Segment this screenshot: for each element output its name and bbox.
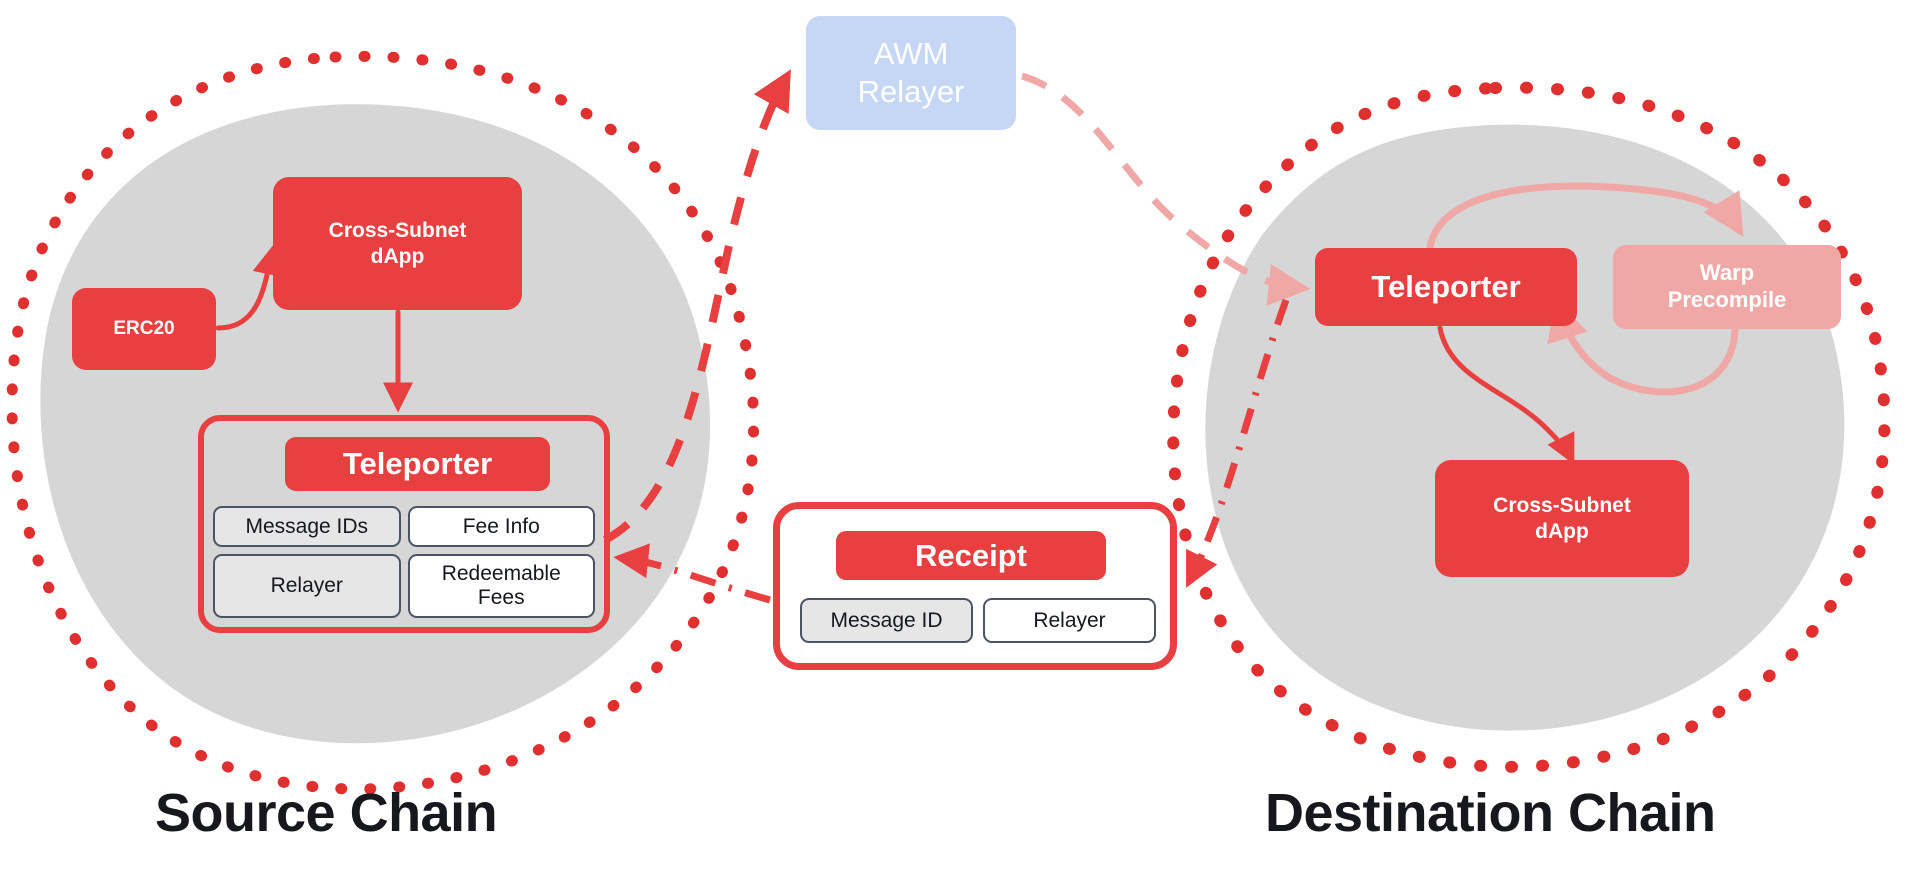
source-chain-label: Source Chain [155,782,497,844]
source-teleporter-title[interactable]: Teleporter [285,437,550,491]
source-field-relayer[interactable]: Relayer [213,554,401,618]
receipt-field-message-id[interactable]: Message ID [800,598,973,643]
receipt-title[interactable]: Receipt [836,531,1106,580]
diagram-canvas: ERC20 Cross-Subnet dApp Teleporter Messa… [0,0,1920,892]
source-field-redeemable-fees[interactable]: Redeemable Fees [408,554,596,618]
node-destination-cross-subnet-dapp[interactable]: Cross-Subnet dApp [1435,460,1689,577]
node-source-cross-subnet-dapp[interactable]: Cross-Subnet dApp [273,177,522,310]
receipt-fields: Message ID Relayer [800,598,1156,643]
destination-chain-label: Destination Chain [1265,782,1716,844]
receipt-container [773,502,1177,670]
destination-chain-blob [1205,125,1844,731]
node-destination-teleporter[interactable]: Teleporter [1315,248,1577,326]
receipt-field-relayer[interactable]: Relayer [983,598,1156,643]
source-field-fee-info[interactable]: Fee Info [408,506,596,547]
node-warp-precompile[interactable]: Warp Precompile [1613,245,1841,329]
source-teleporter-fields: Message IDs Fee Info Relayer Redeemable … [213,506,595,618]
node-awm-relayer[interactable]: AWM Relayer [806,16,1016,130]
node-erc20[interactable]: ERC20 [72,288,216,370]
source-field-message-ids[interactable]: Message IDs [213,506,401,547]
